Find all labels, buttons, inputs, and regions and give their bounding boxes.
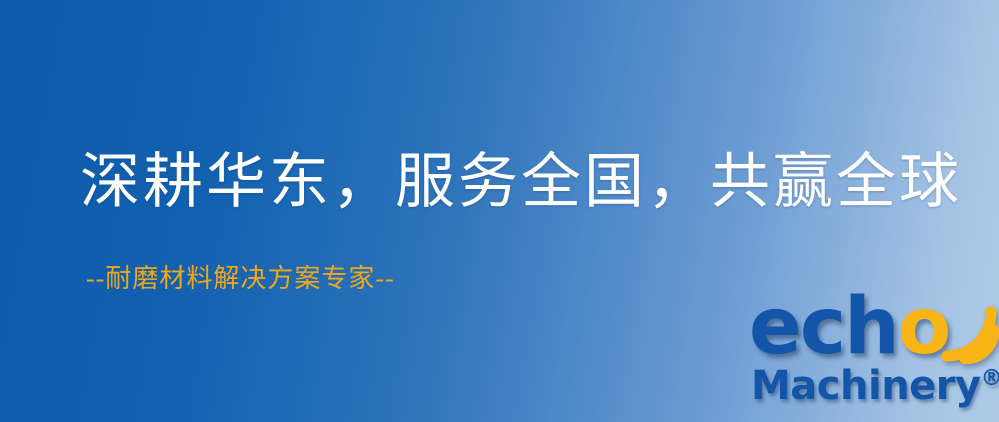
logo-wordmark-prefix: ech — [749, 282, 898, 372]
banner-headline: 深耕华东，服务全国，共赢全球 — [80, 152, 962, 212]
logo-subtext-label: Machinery — [751, 363, 981, 409]
logo-subtext: Machinery® — [751, 366, 999, 406]
promo-banner: 深耕华东，服务全国，共赢全球 --耐磨材料解决方案专家-- echo Machi… — [0, 0, 999, 422]
company-logo: echo Machinery® — [745, 292, 999, 420]
banner-subtitle: --耐磨材料解决方案专家-- — [86, 266, 395, 292]
signal-arcs-icon — [925, 290, 999, 364]
registered-trademark-icon: ® — [981, 366, 999, 391]
logo-wordmark: echo — [749, 288, 949, 366]
